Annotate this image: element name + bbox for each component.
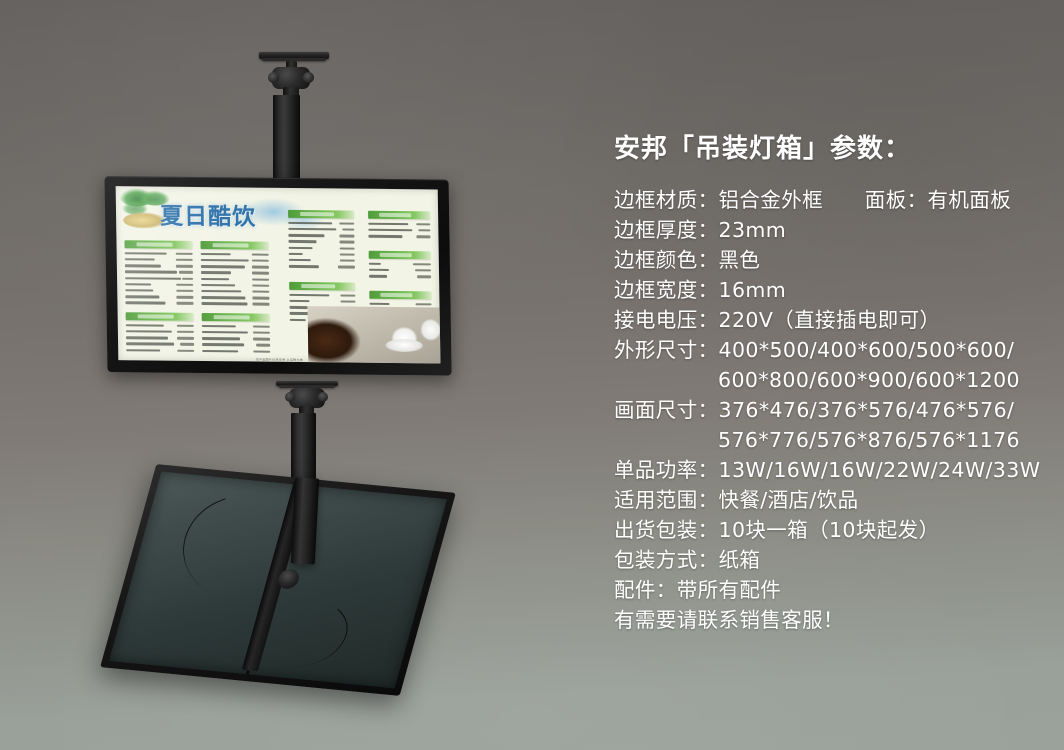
spec-line: 适用范围：快餐/酒店/饮品	[614, 485, 1044, 515]
lightbox-menu-panel: 夏日酷饮	[116, 186, 441, 363]
menu-section-header	[288, 210, 354, 219]
menu-item-row	[288, 221, 354, 226]
menu-item-row	[289, 258, 355, 263]
menu-item-row	[201, 289, 269, 294]
coffee-photo	[308, 306, 441, 363]
menu-section	[288, 210, 355, 271]
menu-item-row	[125, 301, 193, 306]
menu-item-row	[126, 342, 194, 347]
specification-list: 边框材质：铝合金外框 面板：有机面板边框厚度：23mm边框颜色：黑色边框宽度：1…	[614, 185, 1044, 635]
menu-item-row	[368, 222, 430, 227]
hanging-lightbox-rear	[100, 464, 456, 696]
product-photo-canvas: 夏日酷饮	[0, 0, 1064, 750]
menu-item-row	[125, 251, 193, 256]
menu-item-row	[125, 282, 193, 287]
rear-aluminum-frame	[100, 464, 456, 696]
rear-back-panel	[109, 472, 447, 689]
menu-section	[368, 211, 430, 241]
menu-item-row	[288, 239, 354, 244]
menu-item-row	[368, 228, 430, 233]
menu-section	[369, 251, 431, 281]
spec-line: 576*776/576*876/576*1176	[614, 425, 1044, 455]
ceiling-mount-tube	[273, 95, 300, 183]
spec-line: 画面尺寸：376*476/376*576/476*576/	[614, 395, 1044, 425]
menu-item-row	[369, 274, 431, 279]
menu-item-row	[126, 329, 194, 334]
ceiling-mount-knob-left	[268, 72, 279, 83]
menu-item-row	[202, 324, 270, 329]
menu-photo-caption: 本产品图片仅供参考 以实物为准	[256, 358, 303, 362]
menu-section-header	[124, 240, 192, 249]
menu-item-row	[368, 234, 430, 239]
spec-line: 外形尺寸：400*500/400*600/500*600/	[614, 335, 1044, 365]
hanging-lightbox-front: 夏日酷饮	[104, 176, 451, 376]
spec-line: 边框颜色：黑色	[614, 245, 1044, 275]
menu-item-row	[201, 295, 269, 300]
menu-section-header	[368, 211, 430, 220]
coffee-saucer-shape	[385, 339, 423, 352]
menu-item-row	[126, 348, 194, 353]
menu-section-header	[369, 291, 431, 300]
menu-item-row	[369, 262, 431, 267]
menu-section	[126, 312, 195, 355]
menu-item-row	[201, 264, 269, 269]
menu-item-row	[202, 343, 270, 348]
menu-section-header	[200, 241, 268, 250]
spec-line: 包装方式：纸箱	[614, 545, 1044, 575]
menu-item-row	[201, 301, 269, 306]
rear-support-pole	[291, 477, 319, 564]
menu-item-row	[201, 271, 269, 276]
menu-item-row	[369, 302, 431, 307]
lower-mount-knob-left	[285, 392, 295, 402]
spec-line: 有需要请联系销售客服！	[614, 605, 1044, 635]
spec-line: 接电电压：220V（直接插电即可）	[614, 305, 1044, 335]
menu-item-row	[289, 299, 355, 304]
menu-item-row	[125, 276, 193, 281]
menu-item-row	[125, 295, 193, 300]
menu-item-row	[369, 268, 431, 273]
lightbox-aluminum-frame: 夏日酷饮	[104, 176, 451, 376]
spec-line: 边框材质：铝合金外框 面板：有机面板	[614, 185, 1044, 215]
menu-item-row	[289, 246, 355, 251]
menu-section-header	[202, 313, 270, 322]
menu-item-row	[288, 233, 354, 238]
menu-section-header	[369, 251, 431, 260]
menu-item-row	[202, 330, 270, 335]
page-title: 安邦「吊装灯箱」参数：	[614, 128, 1044, 165]
menu-item-row	[125, 257, 193, 262]
menu-item-row	[289, 252, 355, 257]
spec-line: 单品功率：13W/16W/16W/22W/24W/33W	[614, 455, 1044, 485]
menu-item-row	[126, 323, 194, 328]
lower-mount-tube	[291, 413, 316, 487]
menu-section	[124, 240, 193, 307]
ceiling-mount-knob-right	[303, 72, 314, 83]
menu-item-row	[201, 252, 269, 257]
menu-item-row	[202, 349, 270, 354]
menu-section	[202, 313, 271, 356]
spec-line: 边框宽度：16mm	[614, 275, 1044, 305]
menu-item-row	[125, 288, 193, 293]
menu-section-header	[126, 312, 194, 321]
menu-item-row	[125, 264, 193, 269]
menu-section	[200, 241, 269, 308]
spec-line: 出货包装：10块一箱（10块起发）	[614, 515, 1044, 545]
lower-mount-knob-right	[318, 392, 328, 402]
menu-item-row	[201, 283, 269, 288]
menu-section-header	[289, 282, 355, 291]
menu-item-row	[125, 270, 193, 275]
menu-item-row	[202, 336, 270, 341]
menu-item-row	[126, 336, 194, 341]
menu-item-row	[201, 258, 269, 263]
specification-panel: 安邦「吊装灯箱」参数： 边框材质：铝合金外框 面板：有机面板边框厚度：23mm边…	[614, 128, 1044, 635]
menu-item-row	[201, 277, 269, 282]
spec-line: 边框厚度：23mm	[614, 215, 1044, 245]
menu-item-row	[288, 227, 354, 232]
menu-item-row	[289, 293, 355, 298]
spec-line: 配件：带所有配件	[614, 575, 1044, 605]
spec-line: 600*800/600*900/600*1200	[614, 365, 1044, 395]
menu-item-row	[289, 264, 355, 269]
